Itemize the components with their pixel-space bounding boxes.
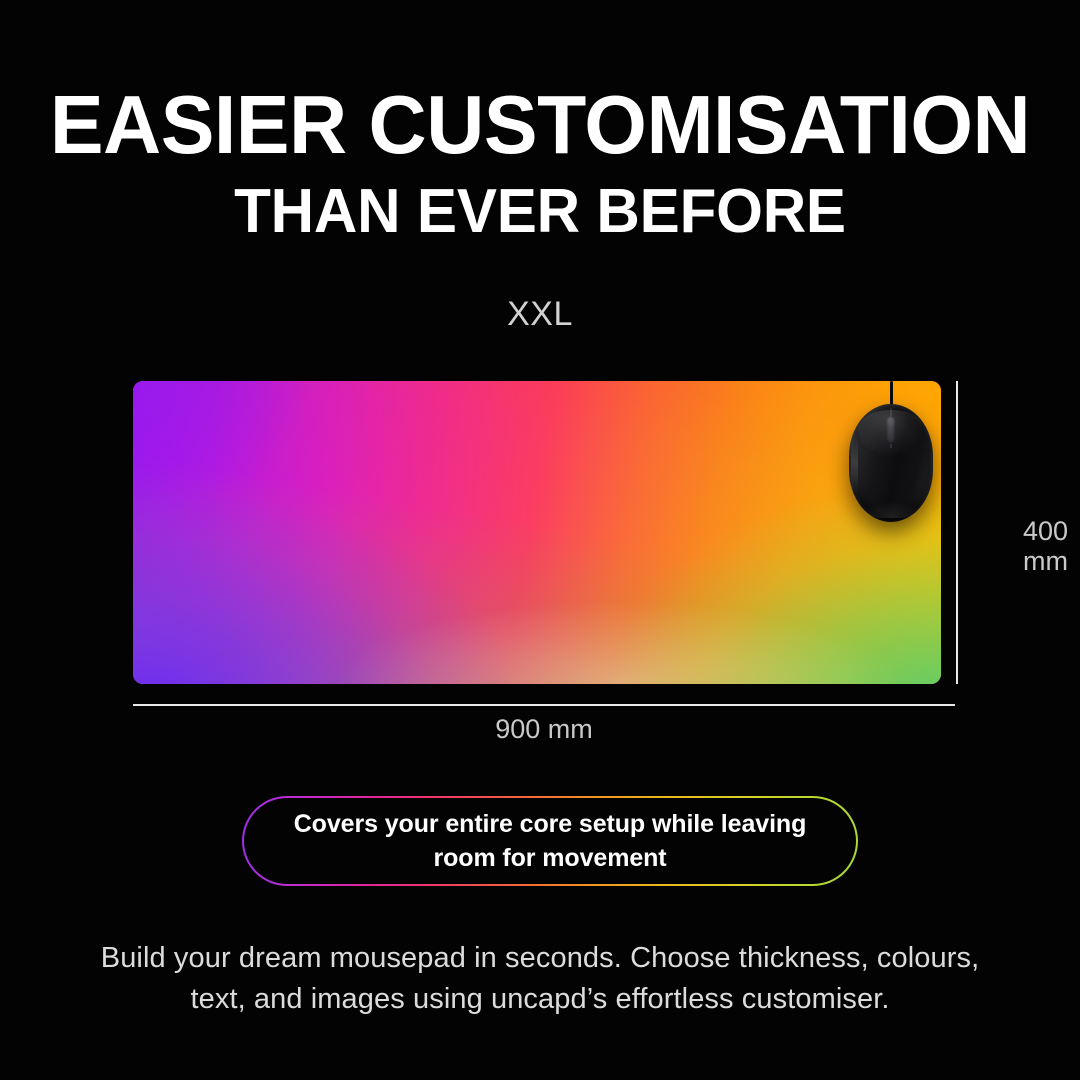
page-title: EASIER CUSTOMISATION: [16, 84, 1064, 165]
height-dimension-label: 400 mm: [916, 516, 1068, 576]
mouse-side-highlight: [851, 434, 858, 496]
mouse-body: [849, 404, 933, 522]
callout-pill: Covers your entire core setup while leav…: [242, 796, 858, 886]
mousepad-surface: [133, 381, 941, 684]
height-dimension-unit: mm: [916, 546, 1068, 576]
computer-mouse-icon: [849, 390, 933, 522]
promo-poster: EASIER CUSTOMISATION THAN EVER BEFORE XX…: [0, 0, 1080, 1080]
page-subtitle: THAN EVER BEFORE: [16, 181, 1064, 243]
width-dimension-label: 900 mm: [133, 714, 955, 745]
product-size-label: XXL: [0, 295, 1080, 334]
callout-text: Covers your entire core setup while leav…: [284, 807, 816, 876]
height-dimension-number: 400: [916, 516, 1068, 546]
headline-block: EASIER CUSTOMISATION THAN EVER BEFORE: [0, 84, 1080, 243]
mouse-scroll-wheel: [886, 416, 895, 444]
width-dimension-line: [133, 704, 955, 706]
footer-description: Build your dream mousepad in seconds. Ch…: [90, 938, 990, 1020]
gradient-highlight-wash: [133, 381, 941, 684]
mouse-bottom-highlight: [861, 502, 921, 518]
callout-pill-inner: Covers your entire core setup while leav…: [244, 798, 856, 884]
mousepad-product-image: [133, 381, 941, 684]
